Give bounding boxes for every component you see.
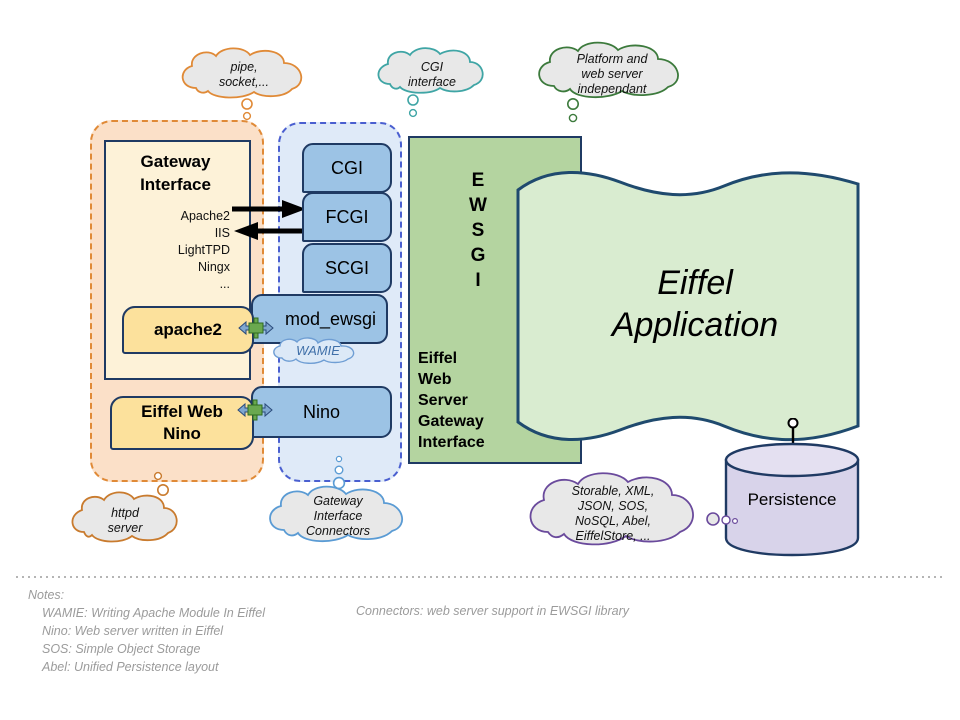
cgi-interface-cloud-text: CGI interface (372, 60, 492, 90)
persistence-formats-line3: NoSQL, Abel, (520, 514, 706, 529)
persistence-label: Persistence (722, 490, 862, 510)
persistence-formats-cloud-text: Storable, XML, JSON, SOS, NoSQL, Abel, E… (520, 484, 706, 544)
httpd-server-line1: httpd (66, 506, 184, 521)
server-list-item-apache2: Apache2 (104, 208, 230, 225)
connector-box-fcgi-label: FCGI (326, 207, 369, 228)
connector-box-fcgi[interactable]: FCGI (302, 192, 392, 242)
notes-heading: Notes: (28, 586, 728, 604)
server-list-item-ellipsis: ... (104, 276, 230, 293)
gateway-connectors-line1: Gateway (262, 494, 414, 509)
pipe-socket-cloud-tail (236, 98, 258, 124)
connector-box-scgi[interactable]: SCGI (302, 243, 392, 293)
pipe-socket-line1: pipe, (174, 60, 314, 75)
eiffel-web-nino-line1: Eiffel Web (141, 402, 223, 421)
connector-box-cgi[interactable]: CGI (302, 143, 392, 193)
platform-independent-cloud-text: Platform and web server independant (530, 52, 694, 97)
gateway-interface-title-line2: Interface (104, 173, 247, 196)
notes-block: Notes: WAMIE: Writing Apache Module In E… (28, 586, 728, 676)
platform-independent-line1: Platform and (530, 52, 694, 67)
persistence-formats-cloud-tail (704, 508, 740, 530)
bidirectional-arrows-icon (230, 196, 310, 242)
eiffel-web-nino-line2: Nino (163, 424, 201, 443)
server-box-eiffel-web-nino[interactable]: Eiffel Web Nino (110, 396, 254, 450)
gateway-server-list: Apache2 IIS LightTPD Ningx ... (104, 208, 230, 293)
cgi-interface-line1: CGI (372, 60, 492, 75)
pipe-socket-cloud-text: pipe, socket,... (174, 60, 314, 90)
platform-independent-cloud-tail (562, 98, 584, 128)
server-box-apache2[interactable]: apache2 (122, 306, 254, 354)
cgi-interface-cloud-tail (402, 94, 424, 122)
platform-independent-line3: independant (530, 82, 694, 97)
httpd-server-line2: server (66, 521, 184, 536)
gateway-interface-title: Gateway Interface (104, 150, 247, 196)
note-item-abel: Abel: Unified Persistence layout (28, 658, 728, 676)
persistence-formats-line4: EiffelStore, ... (520, 529, 706, 544)
connector-box-nino-label: Nino (303, 402, 340, 423)
httpd-server-cloud-tail (150, 466, 174, 496)
diagram-canvas: Gateway Interface Apache2 IIS LightTPD N… (0, 0, 960, 720)
eiffel-application-line1: Eiffel (560, 262, 830, 304)
connector-box-cgi-label: CGI (331, 158, 363, 179)
connector-box-mod-ewsgi-label: mod_ewsgi (285, 309, 376, 330)
notes-divider (16, 576, 944, 578)
plug-connector-icon (236, 397, 274, 423)
cgi-interface-line2: interface (372, 75, 492, 90)
persistence-formats-line1: Storable, XML, (520, 484, 706, 499)
persistence-formats-line2: JSON, SOS, (520, 499, 706, 514)
eiffel-application-line2: Application (560, 304, 830, 346)
gateway-connectors-cloud-text: Gateway Interface Connectors (262, 494, 414, 539)
connector-box-scgi-label: SCGI (325, 258, 369, 279)
gateway-interface-title-line1: Gateway (104, 150, 247, 173)
server-box-apache2-label: apache2 (154, 319, 222, 341)
httpd-server-cloud-text: httpd server (66, 506, 184, 536)
wamie-cloud-label: WAMIE (268, 343, 368, 358)
note-item-connectors: Connectors: web server support in EWSGI … (356, 604, 629, 618)
pipe-socket-line2: socket,... (174, 75, 314, 90)
eiffel-application-label: Eiffel Application (560, 262, 830, 346)
note-item-sos: SOS: Simple Object Storage (28, 640, 728, 658)
server-list-item-ningx: Ningx (104, 259, 230, 276)
server-list-item-iis: IIS (104, 225, 230, 242)
gateway-connectors-cloud-tail (328, 450, 350, 490)
server-box-eiffel-web-nino-label: Eiffel Web Nino (141, 401, 223, 445)
note-item-nino: Nino: Web server written in Eiffel (28, 622, 728, 640)
gateway-connectors-line3: Connectors (262, 524, 414, 539)
platform-independent-line2: web server (530, 67, 694, 82)
server-list-item-lighttpd: LightTPD (104, 242, 230, 259)
gateway-connectors-line2: Interface (262, 509, 414, 524)
